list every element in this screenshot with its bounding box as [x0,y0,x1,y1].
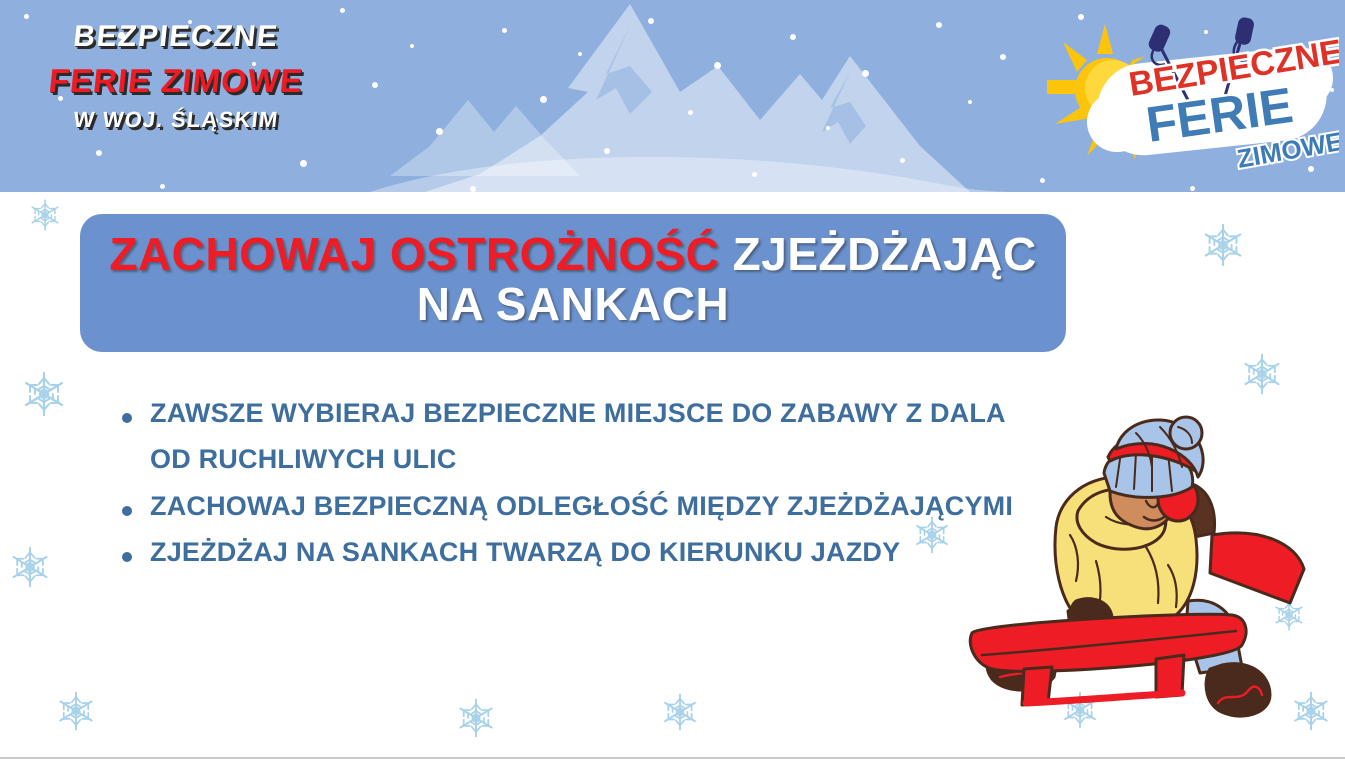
list-item: ZACHOWAJ BEZPIECZNĄ ODLEGŁOŚĆ MIĘDZY ZJE… [112,483,1022,529]
pompom [1170,417,1202,449]
title-banner: ZACHOWAJ OSTROŻNOŚĆ ZJEŻDŻAJĄC NA SANKAC… [80,214,1066,352]
title-red-part: ZACHOWAJ OSTROŻNOŚĆ [109,228,719,280]
header-band: BEZPIECZNE FERIE ZIMOWE W WOJ. ŚLĄSKIM [0,0,1345,192]
title-line-1: ZACHOWAJ OSTROŻNOŚĆ ZJEŻDŻAJĄC [109,230,1036,280]
brand-text: BEZPIECZNE FERIE ZIMOWE W WOJ. ŚLĄSKIM [26,22,326,131]
snowflake-icon [1200,222,1246,268]
snowflake-icon [55,690,97,732]
sled-back [1210,533,1304,603]
title-line-2: NA SANKACH [417,280,730,330]
list-item: ZAWSZE WYBIERAJ BEZPIECZNE MIEJSCE DO ZA… [112,390,1022,483]
brand-line-1: BEZPIECZNE [24,22,327,52]
brand-line-3: W WOJ. ŚLĄSKIM [25,109,327,131]
slide-canvas: BEZPIECZNE FERIE ZIMOWE W WOJ. ŚLĄSKIM [0,0,1345,759]
snowflake-icon [912,515,952,555]
title-white-part: ZJEŻDŻAJĄC [733,228,1037,280]
bezpieczne-ferie-zimowe-logo: BEZPIECZNE FERIE ZIMOWE [1039,10,1339,182]
safety-tips-list: ZAWSZE WYBIERAJ BEZPIECZNE MIEJSCE DO ZA… [112,390,1022,576]
snowflake-icon [1240,352,1284,396]
snowflake-icon [28,198,62,232]
list-item: ZJEŻDŻAJ NA SANKACH TWARZĄ DO KIERUNKU J… [112,529,1022,575]
snowflake-icon [660,692,700,732]
brand-line-2: FERIE ZIMOWE [24,64,327,97]
child-sledding-illustration [960,415,1330,740]
snowflake-icon [20,370,68,418]
snowflake-icon [455,697,497,739]
snowflake-icon [8,545,52,589]
